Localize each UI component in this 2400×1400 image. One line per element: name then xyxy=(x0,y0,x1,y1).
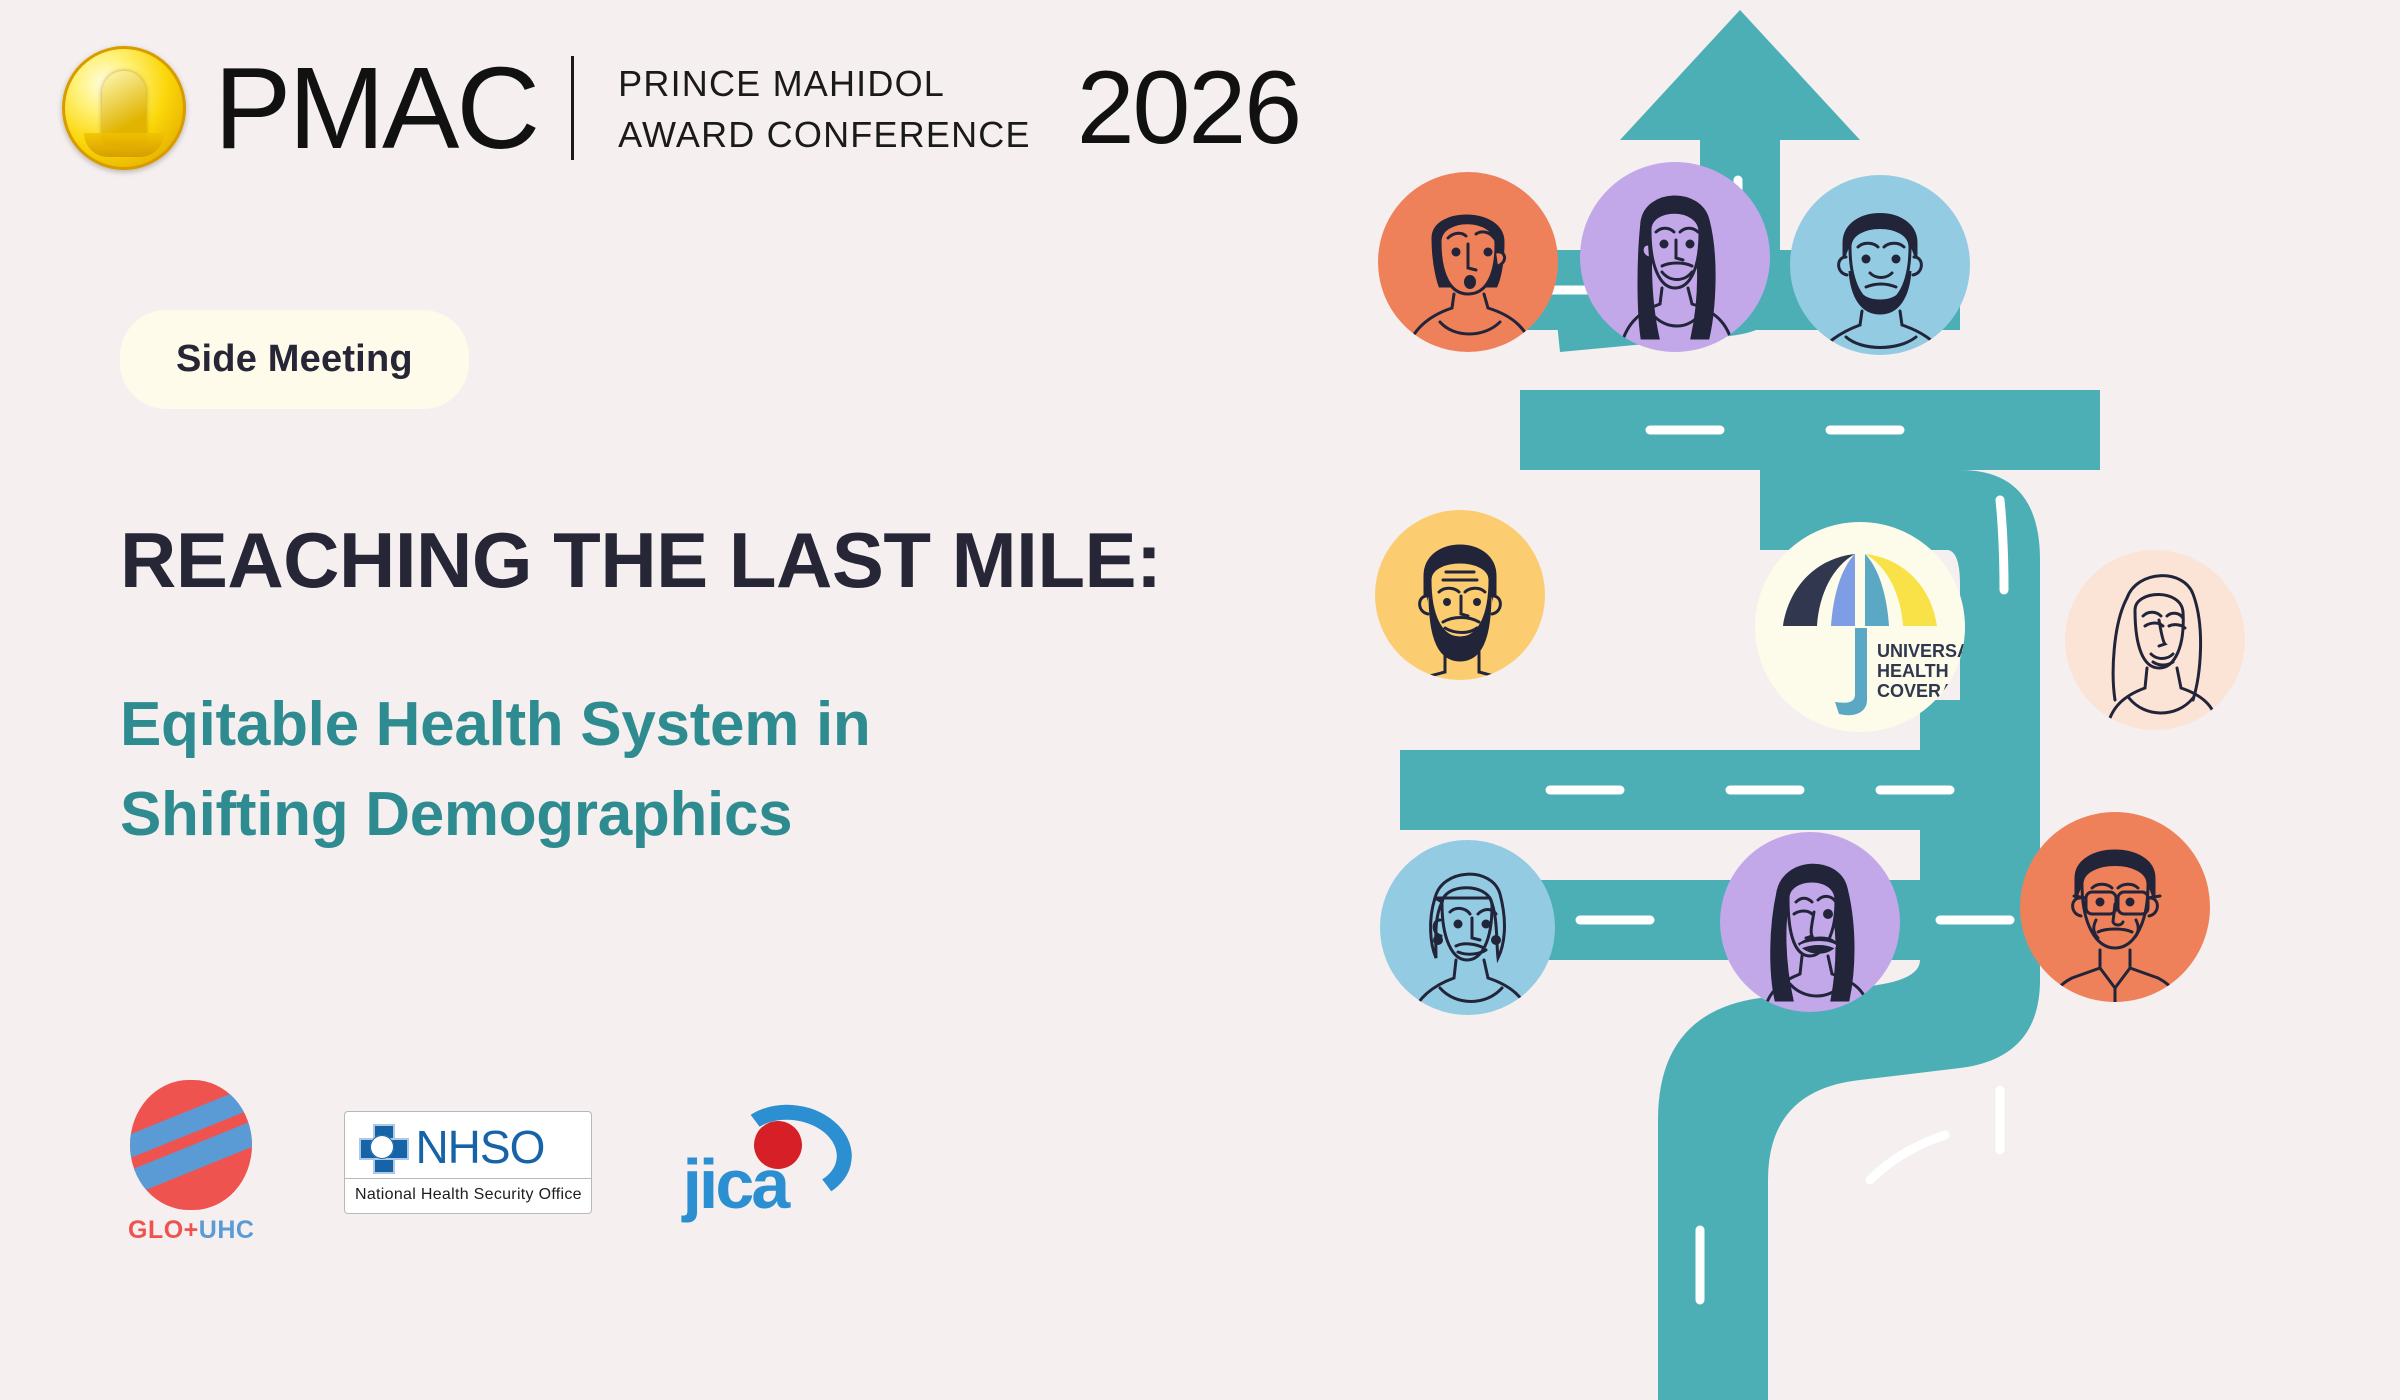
avatar-woman-older-blue xyxy=(1380,840,1555,1015)
nhso-logo: NHSO National Health Security Office xyxy=(344,1111,592,1214)
avatar-woman-bob-orange xyxy=(1378,172,1558,352)
page-subtitle: Eqitable Health System in Shifting Demog… xyxy=(120,680,871,860)
glo-label-part1: GLO xyxy=(128,1216,184,1244)
glo-uhc-logo: GLO+UHC xyxy=(128,1080,254,1245)
nhso-tagline: National Health Security Office xyxy=(345,1178,591,1213)
page-subtitle-line1: Eqitable Health System in xyxy=(120,680,871,770)
pmac-subtitle: PRINCE MAHIDOL AWARD CONFERENCE xyxy=(618,60,1031,156)
glo-label-part2: UHC xyxy=(199,1216,255,1244)
jica-logo: jica xyxy=(682,1103,852,1223)
nhso-mark: NHSO xyxy=(345,1112,591,1178)
pmac-subtitle-line1: PRINCE MAHIDOL xyxy=(618,63,1031,105)
universal-health-coverage-logo: UNIVERSAL HEALTH COVERAGE xyxy=(1755,522,1965,732)
glo-label-plus: + xyxy=(184,1216,199,1244)
avatar-man-beard-blue xyxy=(1790,175,1970,355)
header-divider xyxy=(571,56,574,160)
jica-wordmark: jica xyxy=(682,1149,787,1219)
journey-road-illustration: UNIVERSAL HEALTH COVERAGE xyxy=(1400,0,2400,1400)
glo-uhc-label: GLO+UHC xyxy=(128,1216,254,1245)
avatar-woman-longhair-purple xyxy=(1580,162,1770,352)
avatar-woman-smiling-purple xyxy=(1720,832,1900,1012)
nhso-acronym: NHSO xyxy=(415,1124,544,1170)
conference-year: 2026 xyxy=(1077,56,1300,160)
uhc-line2: HEALTH xyxy=(1877,661,1949,681)
pmac-medallion-icon xyxy=(62,46,186,170)
globe-icon xyxy=(130,1080,252,1210)
avatar-man-fullbeard-yellow xyxy=(1375,510,1545,680)
pmac-subtitle-line2: AWARD CONFERENCE xyxy=(618,114,1031,156)
left-content-panel: PMAC PRINCE MAHIDOL AWARD CONFERENCE 202… xyxy=(0,0,1400,1400)
side-meeting-badge: Side Meeting xyxy=(120,310,469,409)
avatar-man-glasses-orange xyxy=(2020,812,2210,1002)
pmac-acronym: PMAC xyxy=(214,55,537,162)
page-subtitle-line2: Shifting Demographics xyxy=(120,770,871,860)
avatar-woman-outline-cream xyxy=(2065,550,2245,730)
sponsor-logo-row: GLO+UHC NHSO National Health Security Of… xyxy=(128,1080,852,1245)
page-title: REACHING THE LAST MILE: xyxy=(120,520,1161,602)
uhc-line1: UNIVERSAL xyxy=(1877,641,1965,661)
medical-cross-icon xyxy=(359,1124,405,1170)
pmac-header: PMAC PRINCE MAHIDOL AWARD CONFERENCE 202… xyxy=(62,46,1300,170)
